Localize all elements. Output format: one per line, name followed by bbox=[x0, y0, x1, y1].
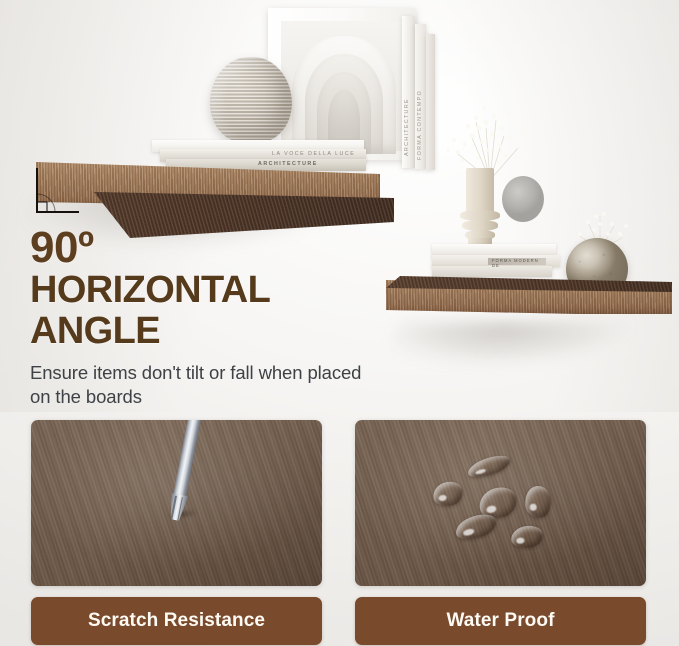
headline-subtitle: Ensure items don't tilt or fall when pla… bbox=[30, 361, 370, 410]
scratch-resistance-photo bbox=[31, 420, 322, 586]
grey-wall-disc bbox=[502, 176, 544, 222]
headline-block: 90º HORIZONTAL ANGLE Ensure items don't … bbox=[30, 226, 370, 410]
feature-card-scratch-resistance: Scratch Resistance bbox=[31, 420, 322, 645]
lower-book-spine-label: FORMA MODERN DE bbox=[488, 258, 546, 265]
floating-shelf-upper bbox=[36, 148, 380, 228]
feature-cards: Scratch Resistance Water Proof bbox=[0, 412, 679, 646]
floating-shelf-lower bbox=[386, 276, 676, 340]
water-proof-label: Water Proof bbox=[446, 610, 554, 632]
headline-line-1: HORIZONTAL bbox=[30, 270, 370, 311]
headline-degree: 90º bbox=[30, 226, 370, 270]
book-spine-vertical-1: ARCHITECTURE bbox=[404, 40, 410, 156]
scratch-resistance-label: Scratch Resistance bbox=[88, 610, 265, 632]
screwdriver-shaft bbox=[173, 420, 202, 500]
lower-shelf-book-stack: FORMA MODERN DE bbox=[432, 244, 560, 278]
water-proof-photo bbox=[355, 420, 646, 586]
right-angle-marker bbox=[34, 166, 80, 216]
product-feature-graphic: ARCHITECTURE FORMA CONTEMPO LA VOCE DELL… bbox=[0, 0, 679, 646]
ribbed-ceramic-vase bbox=[210, 57, 292, 143]
feature-card-water-proof: Water Proof bbox=[355, 420, 646, 645]
lower-book-spine-text: FORMA MODERN DE bbox=[492, 258, 546, 268]
candle-column bbox=[466, 168, 494, 212]
water-proof-label-bar: Water Proof bbox=[355, 597, 646, 645]
scratch-resistance-label-bar: Scratch Resistance bbox=[31, 597, 322, 645]
headline-line-2: ANGLE bbox=[30, 311, 370, 352]
right-angle-icon bbox=[34, 166, 80, 216]
book-spine-vertical-2: FORMA CONTEMPO bbox=[417, 52, 423, 160]
